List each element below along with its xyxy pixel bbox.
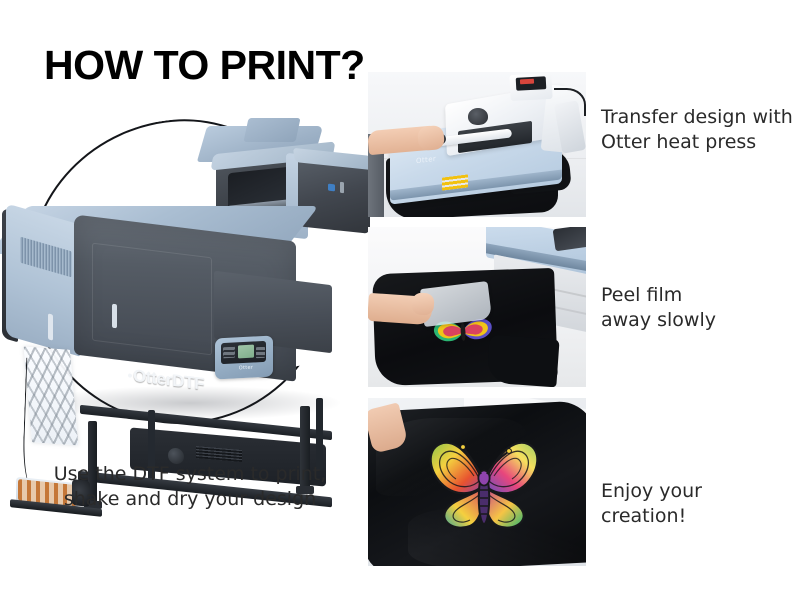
status-led-icon: [340, 182, 344, 193]
caption-transfer: Transfer design with Otter heat press: [601, 105, 793, 154]
dryer-door-seam: [92, 243, 212, 356]
pressure-adjust-dial: [468, 108, 488, 125]
printer-top-riser: [243, 118, 300, 142]
page-title: HOW TO PRINT?: [44, 44, 365, 87]
dtf-printer-illustration: OtterDTF Otter: [0, 118, 378, 438]
operator-hand: [417, 125, 445, 151]
dryer-handle-left: [48, 313, 53, 340]
dryer-left-panel: [6, 203, 80, 356]
black-tshirt-fold: [486, 335, 559, 387]
dryer-handle-right: [112, 304, 117, 329]
control-panel-buttons-right[interactable]: [256, 347, 265, 358]
power-led-icon: [328, 184, 335, 192]
heat-press-photo: Otter: [368, 72, 586, 217]
caption-peel: Peel film away slowly: [601, 283, 716, 332]
heat-press-arm-bg: [553, 227, 586, 251]
operator-hand: [411, 292, 434, 315]
brand-dot-icon: [128, 373, 132, 377]
control-panel-buttons-left[interactable]: [223, 347, 235, 359]
stand-leg-back-right: [316, 398, 323, 470]
caption-enjoy: Enjoy your creation!: [601, 479, 702, 528]
butterfly-print: [410, 428, 558, 540]
finished-shirt-photo: [368, 398, 586, 566]
press-temperature-readout: [520, 79, 534, 85]
peel-film-photo: [368, 227, 586, 387]
caption-print-shake-dry: Use the DTF system to print, shake and d…: [18, 462, 362, 511]
control-panel-screen: [238, 345, 254, 359]
